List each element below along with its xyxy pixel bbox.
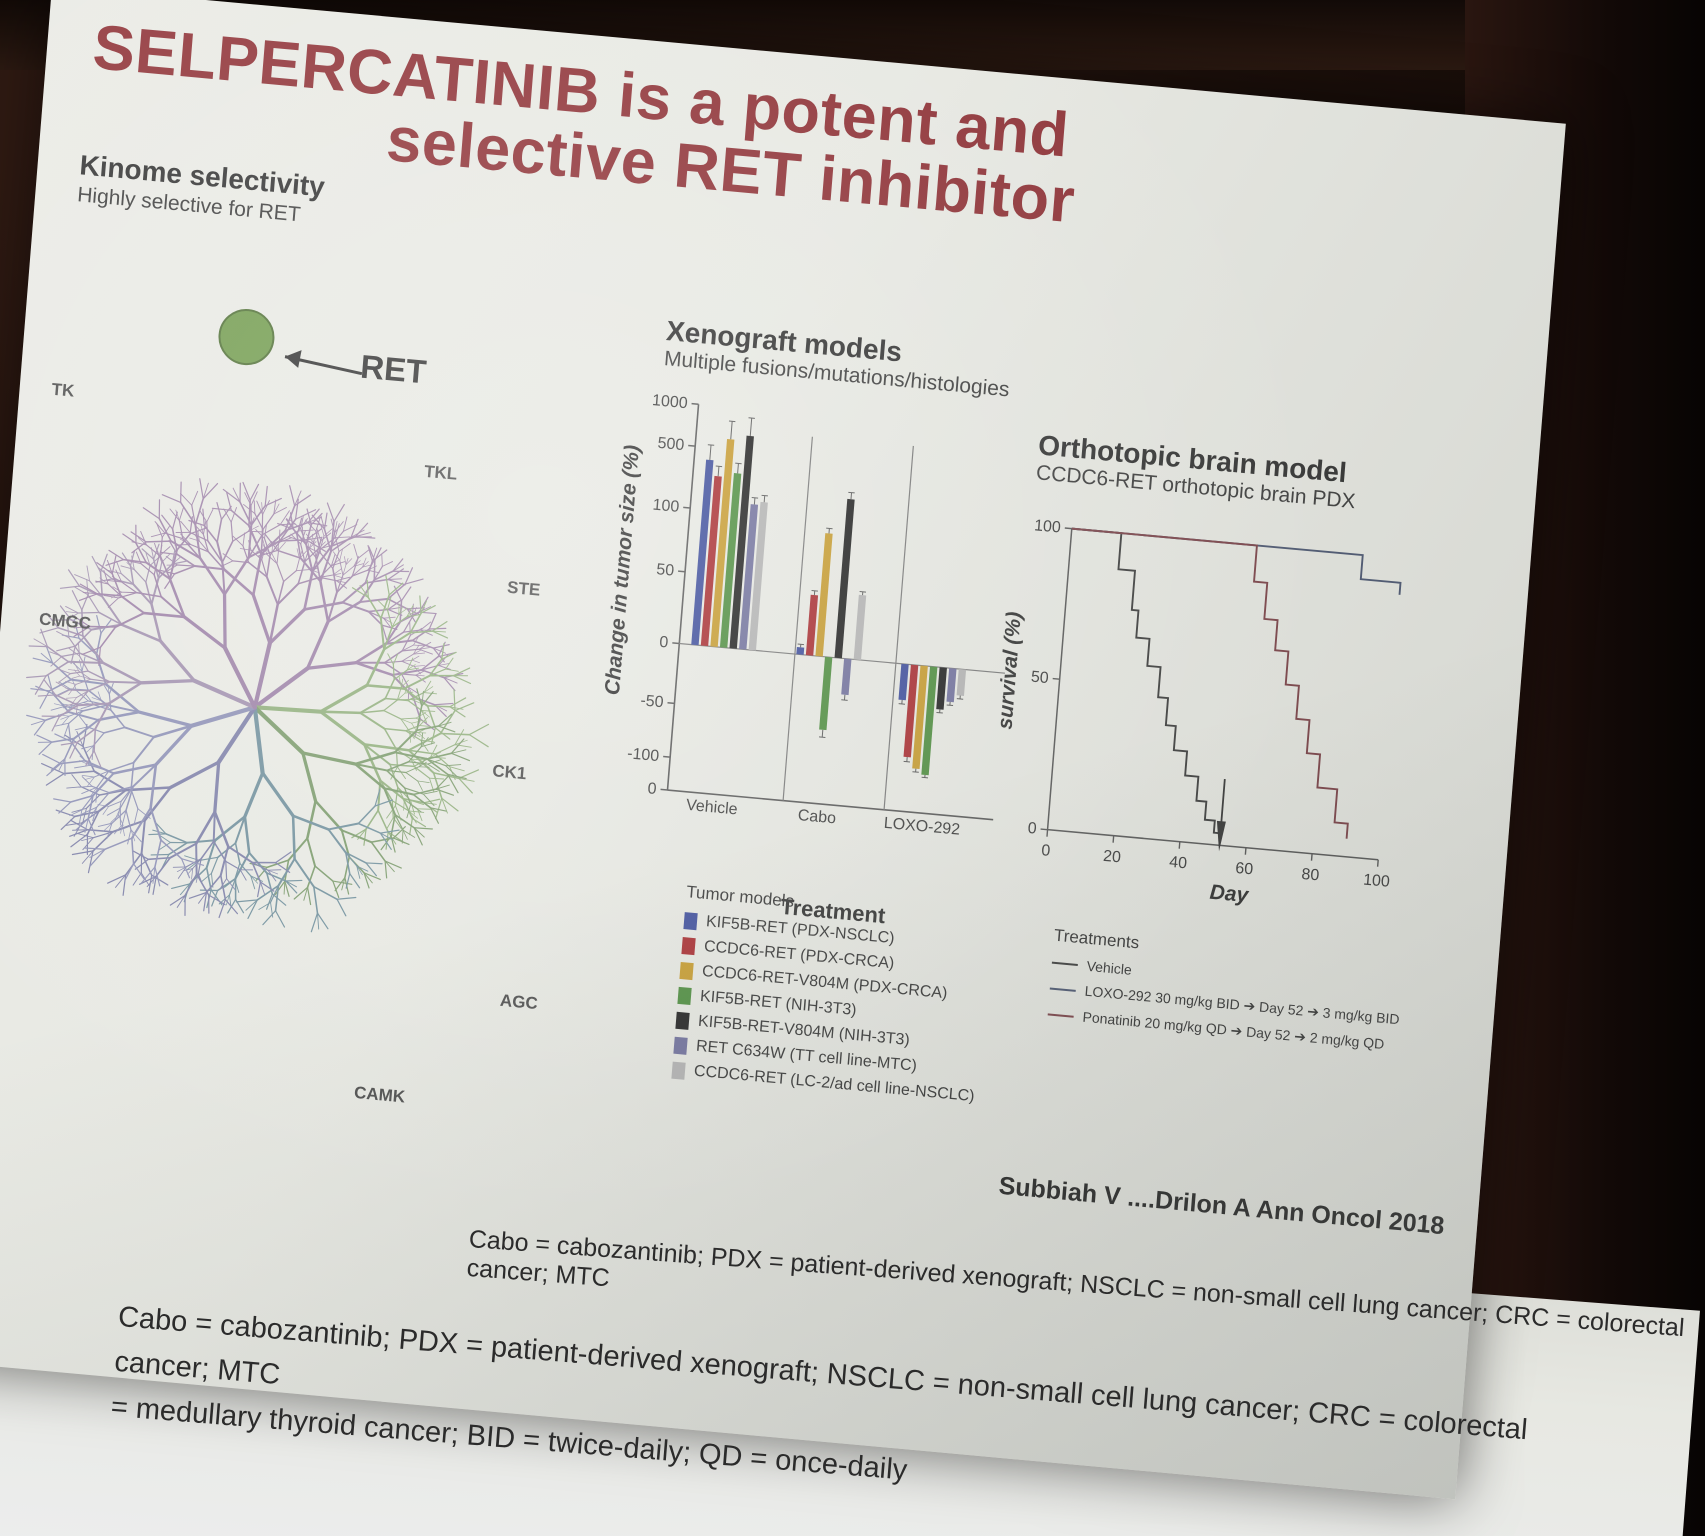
legend-swatch — [681, 937, 695, 955]
bar-y-axis-title: Change in tumor size (%) — [601, 444, 644, 696]
survival-y-tick: 50 — [1030, 669, 1049, 688]
survival-y-tick: 0 — [1027, 820, 1037, 838]
bar — [898, 664, 908, 701]
bar — [835, 499, 855, 658]
kinome-label-tkl: TKL — [423, 462, 458, 485]
bar-y-tick: 1000 — [651, 392, 688, 412]
bar-x-tick: Vehicle — [685, 797, 738, 819]
bar — [957, 669, 966, 696]
bar — [796, 647, 804, 655]
bar — [936, 667, 947, 710]
ret-highlight-dot — [217, 308, 275, 367]
bar-y-tick: -100 — [627, 745, 660, 765]
legend-line-swatch — [1048, 1013, 1074, 1017]
bar — [819, 657, 832, 730]
kinome-tree-figure: TK TKL STE CK1 AGC CAMK CMGC RET — [0, 256, 618, 1096]
bar-y-tick: 50 — [656, 561, 675, 580]
ret-callout-label: RET — [359, 348, 428, 392]
survival-x-tick: 60 — [1235, 860, 1254, 879]
survival-x-tick: 100 — [1362, 872, 1390, 891]
survival-curve — [1049, 529, 1369, 839]
kinome-label-ste: STE — [506, 578, 541, 601]
kinome-label-ck1: CK1 — [492, 761, 527, 784]
survival-x-axis-title: Day — [1209, 881, 1251, 908]
xenograft-bar-chart: 1000500100500-50-1000Change in tumor siz… — [584, 379, 1041, 896]
survival-x-tick: 20 — [1102, 848, 1121, 867]
legend-swatch — [673, 1036, 687, 1054]
kinome-label-tk: TK — [51, 380, 75, 402]
legend-swatch — [671, 1061, 685, 1079]
survival-x-tick: 40 — [1169, 854, 1188, 873]
bar-x-tick: LOXO-292 — [883, 815, 961, 839]
legend-swatch — [683, 912, 697, 930]
bar — [946, 668, 956, 702]
bar-y-tick: 0 — [647, 780, 657, 798]
page-title: SELPERCATINIB is a potent and selective … — [85, 12, 1430, 268]
survival-x-tick: 0 — [1041, 842, 1051, 860]
legend-line-swatch — [1052, 962, 1078, 966]
survival-y-tick: 100 — [1033, 517, 1061, 536]
bar-y-tick: 100 — [652, 497, 680, 516]
bar-y-tick: 500 — [657, 435, 685, 454]
survival-curve — [1049, 529, 1244, 834]
legend-swatch — [679, 961, 693, 979]
survival-chart-svg: 050100020406080100survival (%)Day — [980, 495, 1433, 962]
survival-curve-chart: 050100020406080100survival (%)Day — [980, 495, 1433, 962]
bar-x-tick: Cabo — [797, 807, 837, 827]
bar-y-tick: 0 — [659, 634, 669, 652]
dose-reduction-arrow — [1215, 821, 1226, 852]
bar — [841, 659, 851, 696]
citation-text: Subbiah V ....Drilon A Ann Oncol 2018 — [998, 1172, 1446, 1241]
bar — [815, 533, 832, 656]
kinome-label-camk: CAMK — [353, 1083, 405, 1108]
bar-y-tick: -50 — [640, 692, 664, 711]
kinome-tree-svg — [0, 256, 618, 1096]
legend-swatch — [677, 986, 691, 1004]
bar-chart-svg: 1000500100500-50-1000Change in tumor siz… — [584, 379, 1041, 896]
legend-swatch — [675, 1011, 689, 1029]
screenshot-root: SELPERCATINIB is a potent and selective … — [0, 0, 1705, 1536]
survival-x-tick: 80 — [1301, 866, 1320, 885]
tumor-models-legend: Tumor models KIF5B-RET (PDX-NSCLC)CCDC6-… — [671, 882, 990, 1113]
kinome-label-agc: AGC — [499, 991, 538, 1014]
bar — [854, 595, 867, 660]
legend-label: Vehicle — [1086, 958, 1132, 978]
legend-line-swatch — [1050, 987, 1076, 991]
